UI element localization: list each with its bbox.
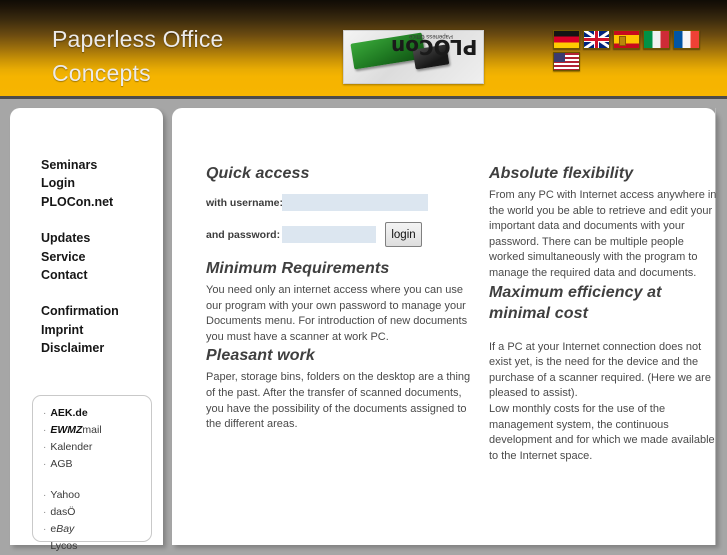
german-flag[interactable] xyxy=(553,30,580,49)
uk-flag[interactable] xyxy=(583,30,610,49)
language-selector xyxy=(553,30,713,74)
link-label: AGB xyxy=(50,458,72,470)
minimum-requirements-body: You need only an internet access where y… xyxy=(206,283,471,345)
link-label: Yahoo xyxy=(50,489,80,501)
sidebar-item-imprint[interactable]: Imprint xyxy=(41,321,161,339)
header-divider xyxy=(0,96,727,99)
main-content-panel: Quick access with username: and password… xyxy=(172,108,716,545)
italian-flag[interactable] xyxy=(643,30,670,49)
username-label: with username: xyxy=(206,197,282,209)
nav-spacer xyxy=(41,211,161,229)
link-item-ewmzmail[interactable]: ·EWMZmail xyxy=(43,422,151,439)
site-header: Paperless Office Concepts Paperless Offi… xyxy=(0,0,727,96)
link-label-prefix: EWMZ xyxy=(50,424,82,436)
password-input[interactable] xyxy=(282,226,376,243)
external-links-box: ·AEK.de ·EWMZmail ·Kalender ·AGB ·Yahoo … xyxy=(32,395,152,542)
link-item-aek-de[interactable]: ·AEK.de xyxy=(43,405,151,422)
sidebar-item-contact[interactable]: Contact xyxy=(41,266,161,284)
link-item-yahoo[interactable]: ·Yahoo xyxy=(43,487,151,504)
sidebar-panel: Seminars Login PLOCon.net Updates Servic… xyxy=(10,108,163,545)
sidebar-item-confirmation[interactable]: Confirmation xyxy=(41,302,161,320)
pleasant-work-body: Paper, storage bins, folders on the desk… xyxy=(206,370,471,432)
link-item-lycos[interactable]: ·Lycos xyxy=(43,538,151,555)
bullet-icon: · xyxy=(43,408,46,419)
link-label: AEK.de xyxy=(50,407,87,419)
link-label: Kalender xyxy=(50,441,92,453)
pleasant-work-heading: Pleasant work xyxy=(206,345,471,366)
password-row: and password: login xyxy=(206,222,471,247)
bullet-icon: · xyxy=(43,459,46,470)
bullet-icon: · xyxy=(43,541,46,552)
spanish-flag[interactable] xyxy=(613,30,640,49)
plocon-logo: Paperless Office PLOCon xyxy=(343,30,484,84)
sidebar-item-login[interactable]: Login xyxy=(41,174,161,192)
site-title: Paperless Office Concepts xyxy=(52,22,332,90)
french-flag[interactable] xyxy=(673,30,700,49)
nav-spacer xyxy=(41,284,161,302)
usa-flag[interactable] xyxy=(553,52,580,71)
uk-flag-stripe xyxy=(584,38,609,41)
logo-wordmark: PLOCon xyxy=(391,35,477,59)
sidebar-item-updates[interactable]: Updates xyxy=(41,229,161,247)
username-row: with username: xyxy=(206,194,471,211)
page-root: Paperless Office Concepts Paperless Offi… xyxy=(0,0,727,545)
login-button[interactable]: login xyxy=(385,222,422,247)
link-item-agb[interactable]: ·AGB xyxy=(43,456,151,473)
bullet-icon: · xyxy=(43,490,46,501)
link-item-ebay[interactable]: ·eBay xyxy=(43,521,151,538)
maximum-efficiency-heading: Maximum efficiency at minimal cost xyxy=(489,282,717,324)
sidebar-item-seminars[interactable]: Seminars xyxy=(41,156,161,174)
bullet-icon: · xyxy=(43,425,46,436)
spanish-crest-icon xyxy=(619,36,626,46)
content-column-right: Absolute flexibility From any PC with In… xyxy=(489,163,717,464)
link-item-kalender[interactable]: ·Kalender xyxy=(43,439,151,456)
link-label-suffix: Bay xyxy=(56,523,74,535)
quick-access-heading: Quick access xyxy=(206,163,471,184)
quick-access-form: with username: and password: login xyxy=(206,194,471,247)
link-label: Lycos xyxy=(50,540,77,552)
link-label: dasÖ xyxy=(50,506,75,518)
link-item-dasoe[interactable]: ·dasÖ xyxy=(43,504,151,521)
usa-flag-canton xyxy=(554,53,565,62)
sidebar-item-service[interactable]: Service xyxy=(41,248,161,266)
absolute-flexibility-heading: Absolute flexibility xyxy=(489,163,717,184)
maximum-efficiency-body-2: Low monthly costs for the use of the man… xyxy=(489,402,717,464)
link-spacer xyxy=(43,473,151,487)
username-input[interactable] xyxy=(282,194,428,211)
bullet-icon: · xyxy=(43,507,46,518)
bullet-icon: · xyxy=(43,524,46,535)
sidebar-item-plocon-net[interactable]: PLOCon.net xyxy=(41,193,161,211)
sidebar-navigation: Seminars Login PLOCon.net Updates Servic… xyxy=(41,156,161,358)
bullet-icon: · xyxy=(43,442,46,453)
content-column-left: Quick access with username: and password… xyxy=(206,163,471,433)
link-label-suffix: mail xyxy=(82,424,101,436)
password-label: and password: xyxy=(206,229,282,241)
maximum-efficiency-body-1: If a PC at your Internet connection does… xyxy=(489,340,717,402)
minimum-requirements-heading: Minimum Requirements xyxy=(206,258,471,279)
absolute-flexibility-body: From any PC with Internet access anywher… xyxy=(489,188,717,282)
sidebar-item-disclaimer[interactable]: Disclaimer xyxy=(41,339,161,357)
